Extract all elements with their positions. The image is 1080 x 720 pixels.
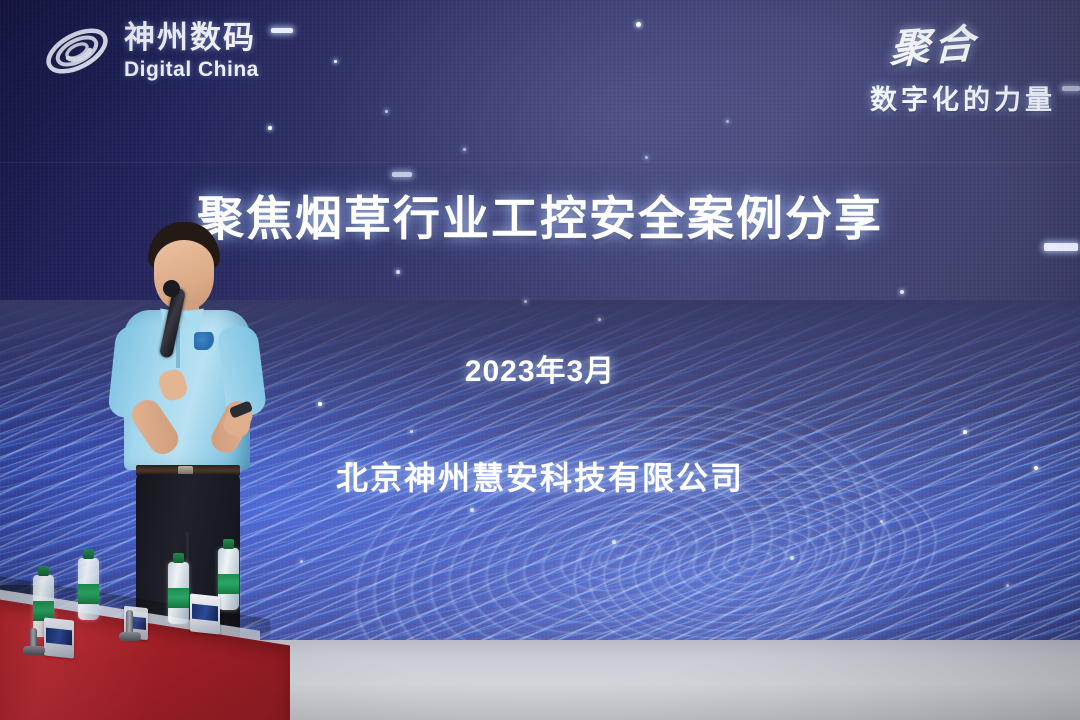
particle-dot — [790, 556, 794, 560]
particle-dot — [410, 430, 413, 433]
brand-name-cn: 神州数码 — [124, 22, 259, 53]
water-bottle — [168, 562, 189, 624]
screen-light-bar — [392, 172, 412, 177]
particle-dot — [636, 22, 641, 27]
brand-logo-text: 神州数码 Digital China — [124, 22, 259, 80]
name-placard — [44, 617, 74, 658]
particle-dot — [396, 270, 400, 274]
particle-dot — [598, 318, 601, 321]
particle-dot — [334, 60, 337, 63]
event-slogan: 聚合 数字化的力量 — [870, 14, 1056, 117]
particle-dot — [612, 540, 616, 544]
particle-dot — [1006, 584, 1009, 587]
presenter-shirt-logo-icon — [194, 332, 214, 350]
stage-scene: 神州数码 Digital China 聚合 数字化的力量 聚焦烟草行业工控安全案… — [0, 0, 1080, 720]
digital-china-swirl-logo-icon — [42, 20, 112, 82]
particle-dot — [385, 110, 388, 113]
water-bottle — [78, 558, 99, 620]
particle-dot — [268, 126, 272, 130]
microphone-stand-base — [23, 646, 45, 655]
brand-logo: 神州数码 Digital China — [42, 20, 259, 82]
name-placard-band — [192, 604, 218, 622]
screen-light-bar — [271, 28, 293, 33]
particle-dot — [963, 430, 967, 434]
particle-dot — [645, 156, 648, 159]
particle-dot — [300, 560, 303, 563]
screen-light-bar — [1062, 86, 1080, 91]
name-placard-band — [46, 628, 72, 646]
particle-dot — [470, 508, 474, 512]
particle-dot — [524, 300, 527, 303]
brand-name-en: Digital China — [124, 59, 259, 80]
name-placard — [190, 593, 220, 634]
particle-dot — [880, 520, 883, 523]
particle-dot — [463, 148, 466, 151]
particle-dot — [318, 402, 322, 406]
particle-dot — [900, 290, 904, 294]
slogan-subtitle: 数字化的力量 — [870, 78, 1056, 117]
led-panel-seam — [0, 162, 1080, 163]
slogan-calligraphy: 聚合 — [889, 11, 979, 75]
water-bottle — [218, 548, 239, 610]
microphone-stand-base — [119, 632, 141, 641]
particle-dot — [726, 120, 729, 123]
